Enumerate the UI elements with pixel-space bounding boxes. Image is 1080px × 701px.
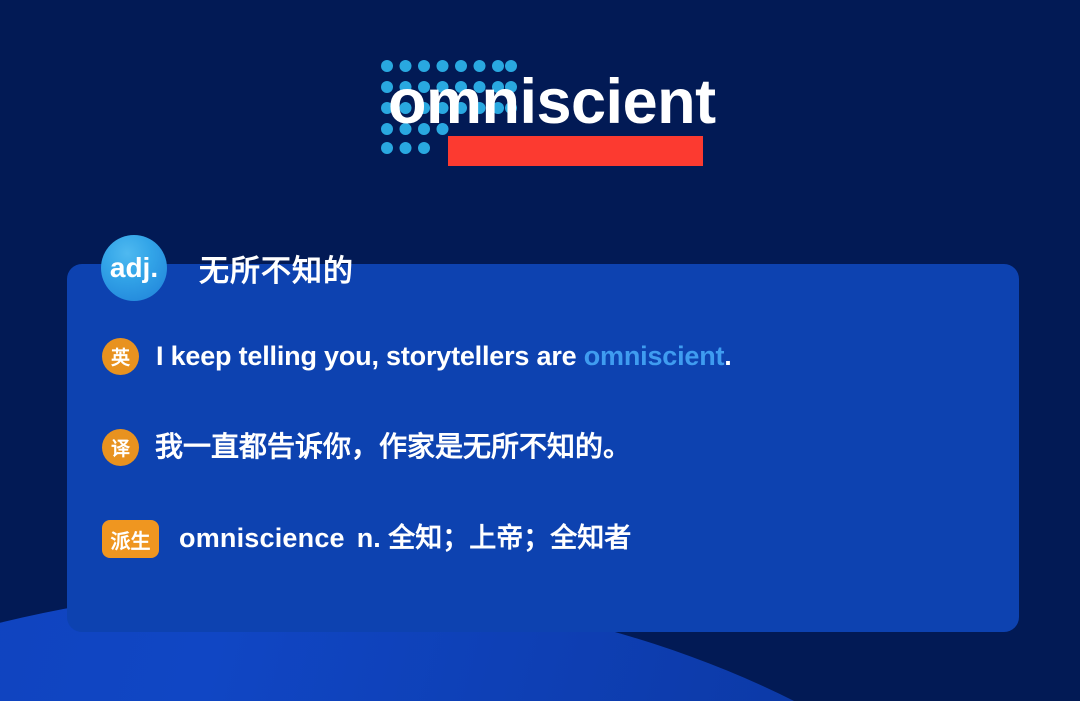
word-card-screen: omniscient adj. 无所不知的 英 I keep telling y… <box>0 0 1080 701</box>
example-translation-row: 译 我一直都告诉你，作家是无所不知的。 <box>102 429 631 466</box>
example-translation-text: 我一直都告诉你，作家是无所不知的。 <box>155 429 631 461</box>
english-highlight-word: omniscient <box>584 341 725 371</box>
word-meaning: 无所不知的 <box>199 246 354 290</box>
derivative-senses: 全知；上帝；全知者 <box>388 523 631 553</box>
english-text-after: . <box>724 341 731 371</box>
part-of-speech-badge: adj. <box>101 235 167 301</box>
translation-tag-badge: 译 <box>102 429 139 466</box>
headline-word: omniscient <box>388 71 716 134</box>
english-tag-badge: 英 <box>102 338 139 375</box>
headline-underline-bar <box>448 136 703 166</box>
derivative-part-of-speech: n. <box>357 523 381 553</box>
headline-area: omniscient <box>0 0 1080 200</box>
example-english-text: I keep telling you, storytellers are omn… <box>156 338 732 370</box>
example-english-row: 英 I keep telling you, storytellers are o… <box>102 338 732 375</box>
derivative-text: omnisciencen. 全知；上帝；全知者 <box>179 520 631 552</box>
english-text-before: I keep telling you, storytellers are <box>156 341 584 371</box>
derivative-tag-badge: 派生 <box>102 520 159 558</box>
derivative-word: omniscience <box>179 523 345 553</box>
derivative-row: 派生 omnisciencen. 全知；上帝；全知者 <box>102 520 631 558</box>
part-of-speech-row: adj. 无所不知的 <box>101 235 354 301</box>
